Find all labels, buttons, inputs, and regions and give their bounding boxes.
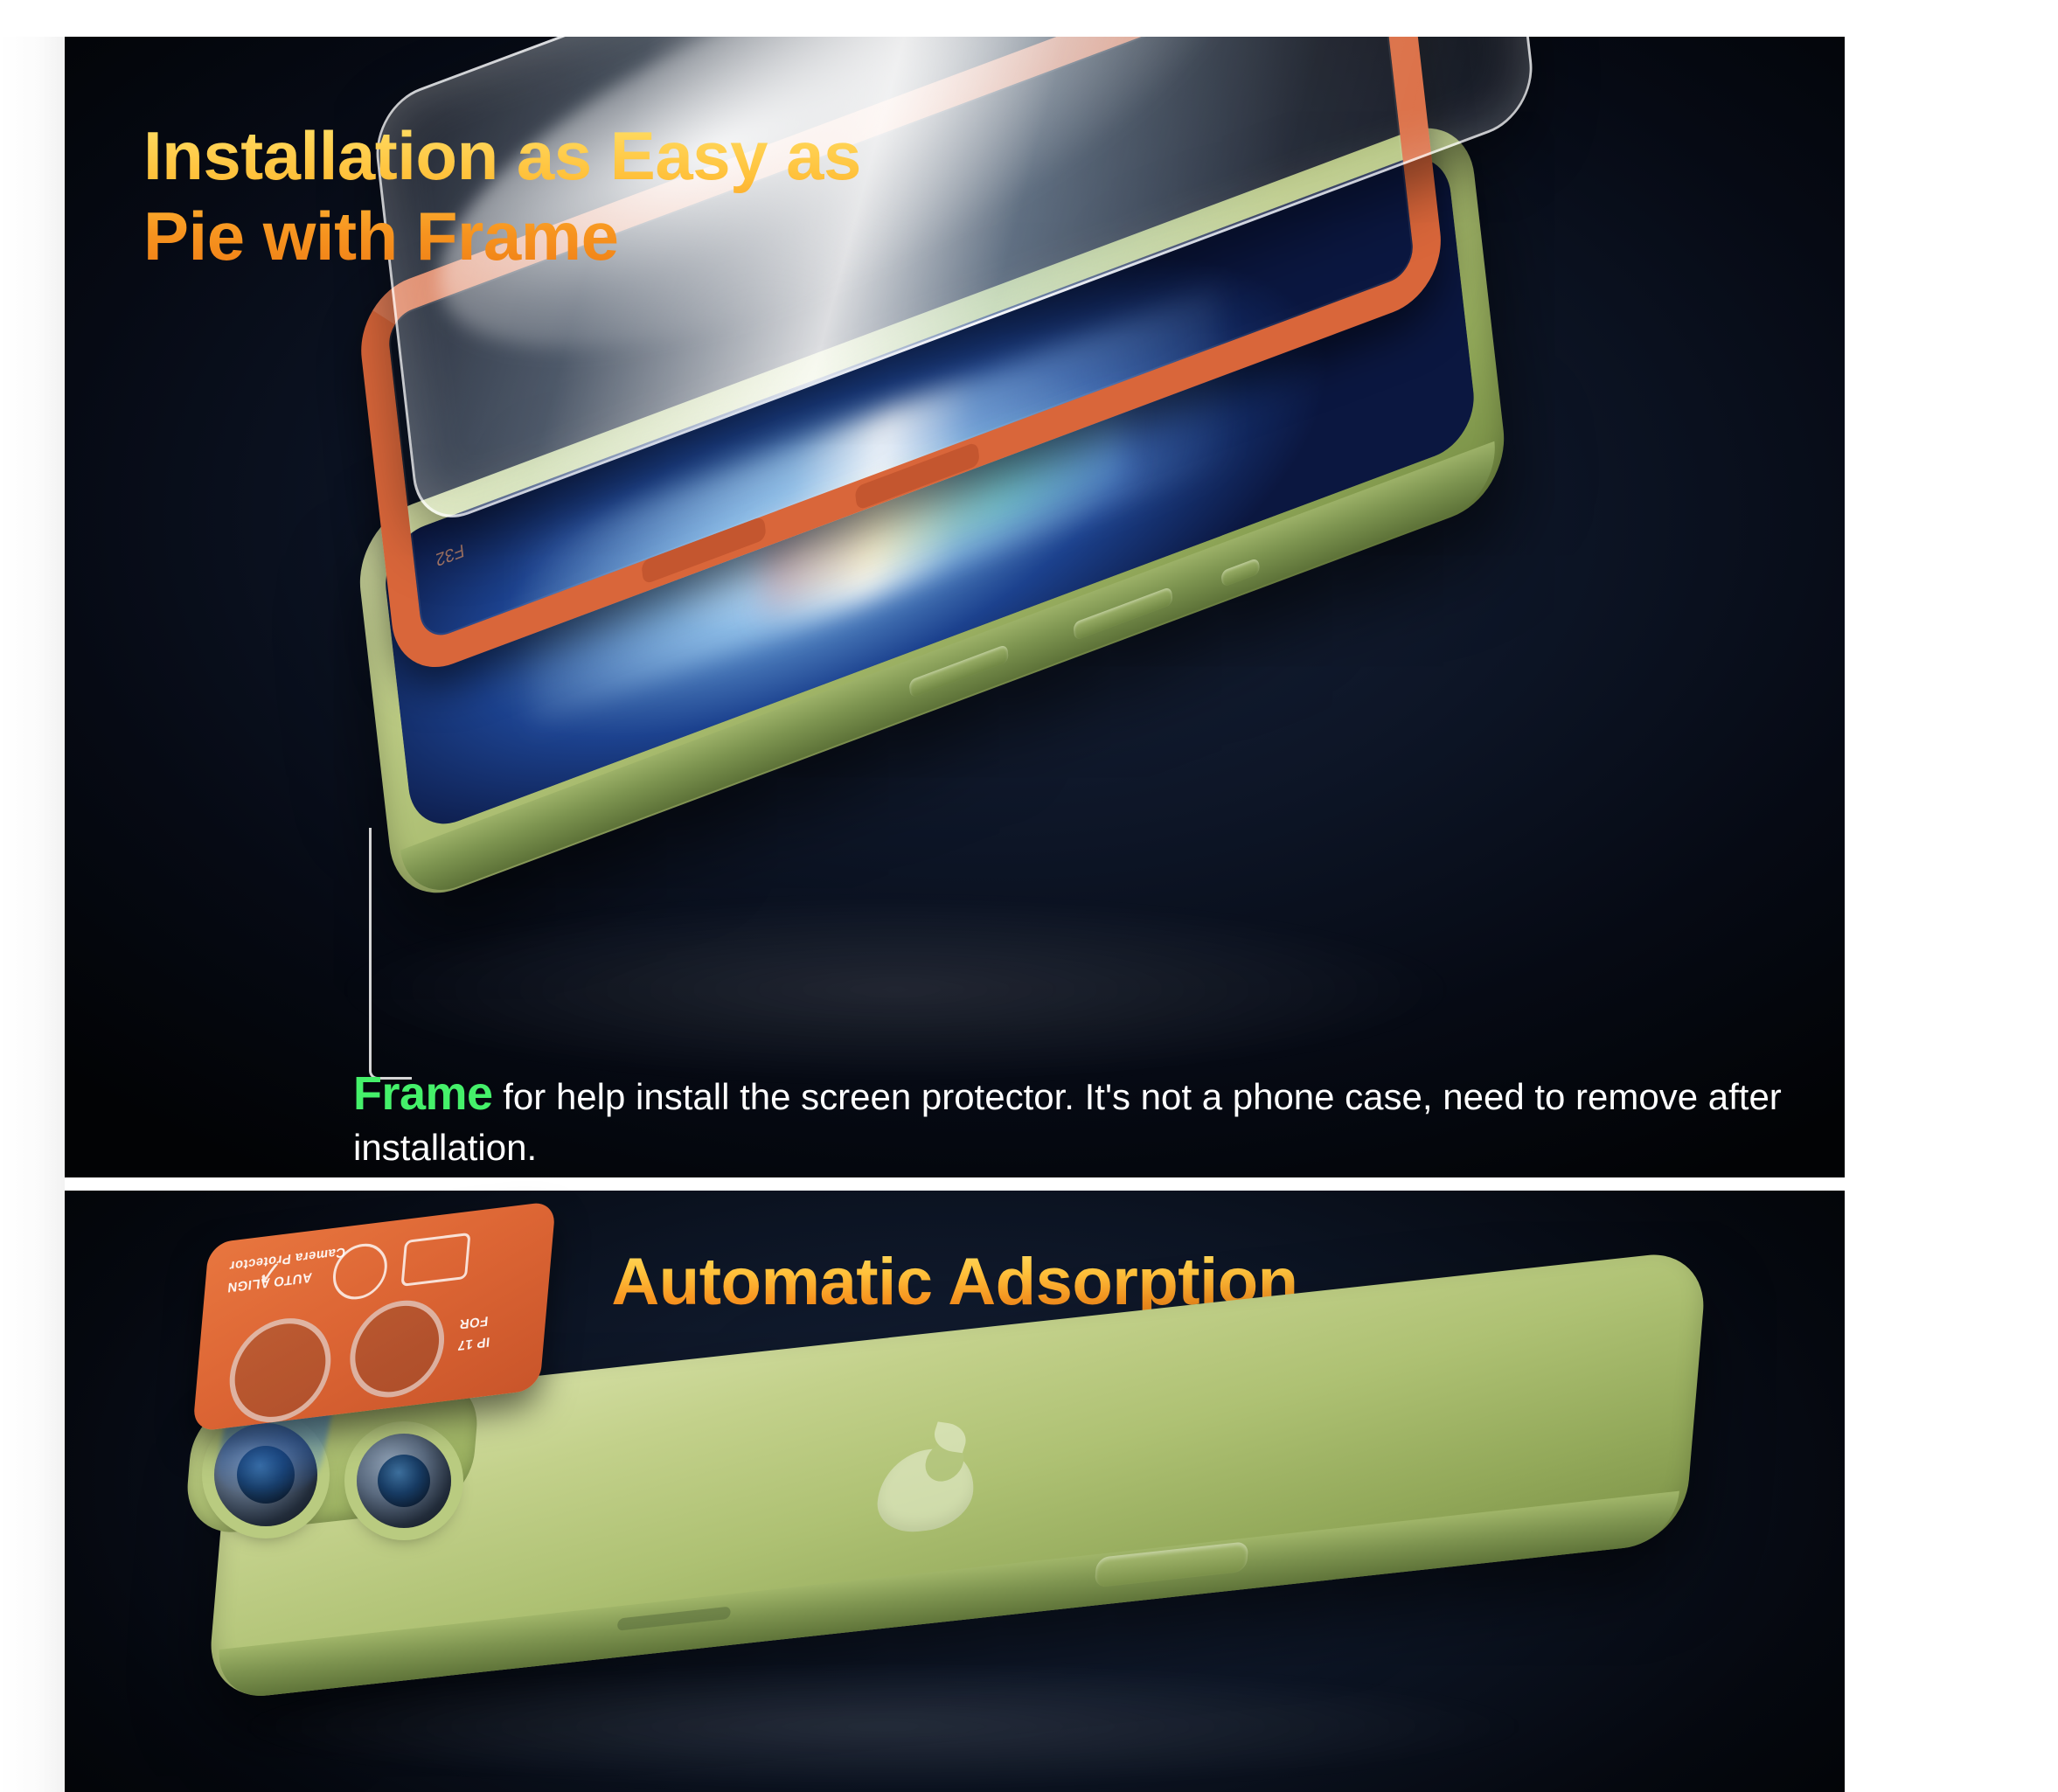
page-right-gutter — [1845, 37, 2058, 1792]
card-text-line-3: FOR — [459, 1313, 489, 1331]
caption-highlight-word: Frame — [353, 1067, 493, 1120]
camera-lens-ultrawide — [357, 1434, 451, 1528]
panel-1-scene: FOR 17 F32 Installation as Easy as Pie w… — [65, 37, 1845, 1177]
installation-frame-panel: FOR 17 F32 Installation as Easy as Pie w… — [65, 37, 1845, 1177]
caption-text: for help install the screen protector. I… — [353, 1076, 1782, 1168]
card-text-line-4: IP 17 — [457, 1334, 491, 1353]
card-text-line-1: Camera Protector — [228, 1244, 345, 1274]
lens-inner-ultrawide — [378, 1455, 430, 1507]
panel-1-floor-reflection — [327, 893, 1464, 1086]
page-left-gutter — [0, 37, 65, 1792]
lens-cutout-2 — [346, 1295, 448, 1403]
lens-cutout-1 — [226, 1312, 335, 1427]
product-image-page: FOR 17 F32 Installation as Easy as Pie w… — [0, 0, 2058, 1792]
card-icon — [400, 1233, 470, 1287]
caption-leader-line — [369, 828, 412, 1080]
apple-logo — [874, 1421, 978, 1537]
panel-1-headline: Installation as Easy as Pie with Frame — [143, 115, 861, 276]
panel-1-caption: Frame for help install the screen protec… — [353, 1064, 1787, 1171]
page-top-strip — [0, 0, 2058, 38]
